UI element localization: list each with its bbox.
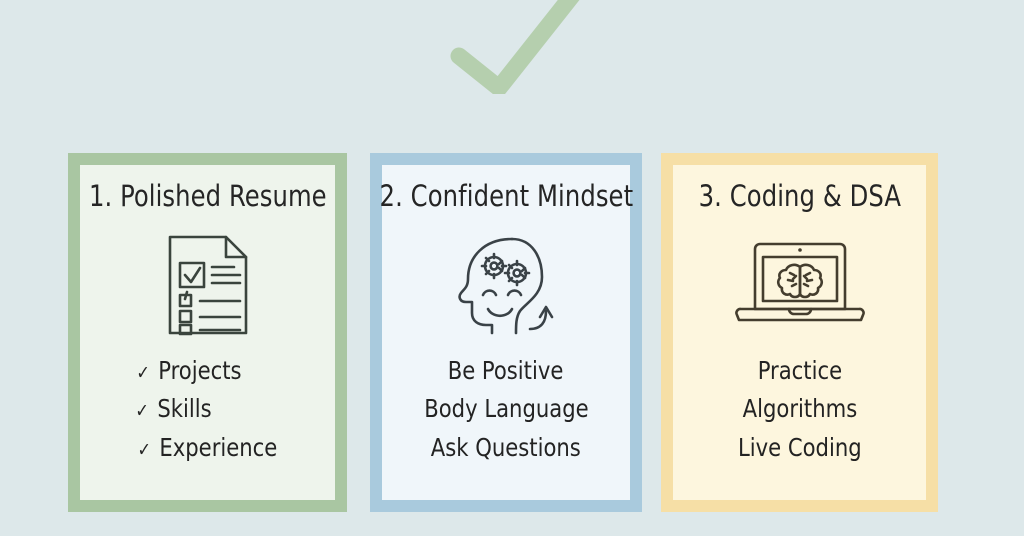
list-item-label: Experience xyxy=(160,430,278,466)
laptop-with-brain-icon xyxy=(733,231,867,339)
list-item-label: Algorithms xyxy=(742,391,857,427)
card-coding-dsa[interactable]: 3. Coding & DSA xyxy=(661,153,938,512)
card-polished-resume[interactable]: 1. Polished Resume xyxy=(68,153,347,512)
list-item: Ask Questions xyxy=(431,430,581,466)
check-icon: ✓ xyxy=(136,402,149,421)
check-icon: ✓ xyxy=(136,364,149,383)
card-body: 3. Coding & DSA xyxy=(673,165,926,500)
list-item: Live Coding xyxy=(738,430,862,466)
infographic-canvas: 1. Polished Resume xyxy=(0,0,1024,536)
resume-checklist-document-icon xyxy=(160,231,256,339)
list-item: Algorithms xyxy=(742,391,857,427)
list-item: ✓ Experience xyxy=(138,430,278,466)
list-item-label: Practice xyxy=(757,353,841,389)
list-item-label: Body Language xyxy=(424,391,588,427)
list-item-label: Skills xyxy=(157,391,211,427)
card-title: 3. Coding & DSA xyxy=(698,181,900,213)
green-checkmark-icon xyxy=(437,0,627,94)
list-item-label: Be Positive xyxy=(448,353,564,389)
list-item-label: Live Coding xyxy=(738,430,862,466)
card-confident-mindset[interactable]: 2. Confident Mindset xyxy=(370,153,642,512)
card-title: 1. Polished Resume xyxy=(89,181,327,213)
list-item: Be Positive xyxy=(448,353,564,389)
head-with-gears-icon xyxy=(450,231,562,339)
list-item: Practice xyxy=(757,353,841,389)
card-title: 2. Confident Mindset xyxy=(379,181,633,213)
card-body: 1. Polished Resume xyxy=(80,165,335,500)
check-icon: ✓ xyxy=(138,441,151,460)
card-item-list: ✓ Projects ✓ Skills ✓ Experience xyxy=(133,353,282,466)
card-item-list: Practice Algorithms Live Coding xyxy=(734,353,866,466)
list-item: ✓ Projects xyxy=(136,353,241,389)
card-body: 2. Confident Mindset xyxy=(382,165,630,500)
card-item-list: Be Positive Body Language Ask Questions xyxy=(419,353,594,466)
list-item: ✓ Skills xyxy=(136,391,212,427)
list-item-label: Ask Questions xyxy=(431,430,581,466)
list-item: Body Language xyxy=(424,391,588,427)
list-item-label: Projects xyxy=(158,353,241,389)
